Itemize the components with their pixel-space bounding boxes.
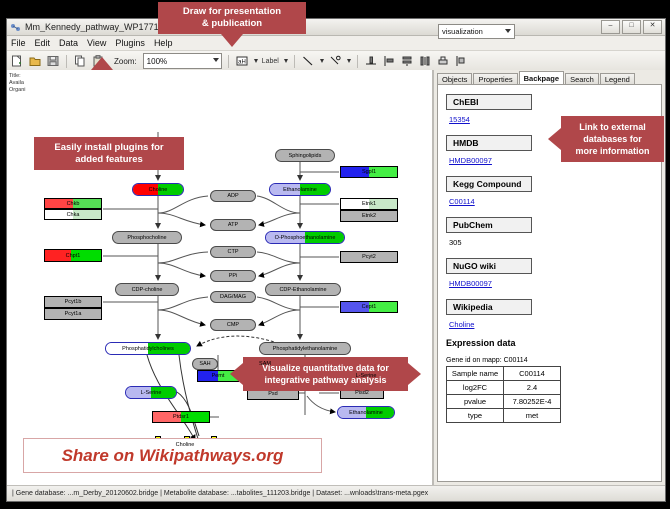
metabolite-node-atp[interactable]: ATP: [210, 219, 256, 231]
callout-share-box: Share on Wikipathways.org: [23, 438, 322, 473]
metabolite-node-ethanolamine_top[interactable]: Ethanolamine: [269, 183, 331, 196]
node-label: Sgpl1: [362, 169, 376, 175]
node-label: DAG/MAG: [220, 294, 246, 300]
node-label: CTP: [228, 249, 239, 255]
node-label: Chpt1: [66, 253, 81, 259]
callout-draw-arrow: [221, 34, 243, 47]
size-icon[interactable]: [436, 54, 450, 68]
zoom-value: 100%: [147, 57, 167, 66]
db-link-nugo[interactable]: HMDB00097: [449, 279, 653, 288]
save-icon[interactable]: [46, 54, 60, 68]
node-label: Sphingolipids: [289, 153, 322, 159]
menu-edit[interactable]: Edit: [35, 38, 51, 48]
cell-value: 2.4: [504, 381, 561, 395]
db-link-kegg[interactable]: C00114: [449, 197, 653, 206]
node-label: Etnk1: [362, 201, 376, 207]
gene-node-chkb[interactable]: Chkb: [44, 198, 102, 209]
cell-key: log2FC: [447, 381, 504, 395]
db-header-kegg: Kegg Compound: [446, 176, 532, 192]
window-title-bar: Mm_Kennedy_pathway_WP1771_45176.gpml – □…: [7, 19, 665, 36]
label-dropdown-label: Label: [262, 58, 279, 65]
callout-link-line1: Link to external: [579, 121, 646, 133]
db-value-pubchem: 305: [449, 238, 653, 247]
pathvisio-window: Mm_Kennedy_pathway_WP1771_45176.gpml – □…: [6, 18, 666, 502]
open-folder-icon[interactable]: [28, 54, 42, 68]
align-left-icon[interactable]: [382, 54, 396, 68]
screenshot-root: Mm_Kennedy_pathway_WP1771_45176.gpml – □…: [0, 0, 670, 509]
db-header-pubchem: PubChem: [446, 217, 532, 233]
node-label: Choline: [176, 442, 195, 448]
callout-link-arrow: [548, 128, 561, 150]
node-label: Pcyt1a: [65, 311, 82, 317]
callout-share-text: Share on Wikipathways.org: [62, 446, 284, 466]
callout-link-line3: more information: [575, 145, 649, 157]
metabolite-node-adp[interactable]: ADP: [210, 190, 256, 202]
node-label: Ethanolamine: [283, 187, 317, 193]
node-label: SAM: [259, 361, 271, 367]
toolbar-separator: [66, 55, 67, 68]
callout-link: Link to external databases for more info…: [561, 116, 664, 162]
table-row: log2FC 2.4: [447, 381, 561, 395]
gene-node-pcyt1a[interactable]: Pcyt1a: [44, 308, 102, 320]
expression-data-header: Expression data: [446, 338, 653, 348]
window-controls: – □ ✕: [601, 20, 662, 34]
metabolite-node-choline_top[interactable]: Choline: [132, 183, 184, 196]
tab-backpage[interactable]: Backpage: [519, 71, 564, 85]
node-label: L-Serine: [356, 373, 377, 379]
line-icon[interactable]: [301, 54, 315, 68]
gene-node-chka[interactable]: Chka: [44, 209, 102, 220]
gene-node-sgpl1[interactable]: Sgpl1: [340, 166, 398, 178]
db-header-chebi: ChEBI: [446, 94, 532, 110]
node-label: L-Serine: [141, 390, 162, 396]
callout-visualize-arrow-right: [408, 363, 421, 385]
db-link-wikipedia[interactable]: Choline: [449, 320, 653, 329]
menu-bar: File Edit Data View Plugins Help: [7, 36, 665, 51]
metabolite-node-ppi[interactable]: PPi: [210, 270, 256, 282]
cell-value: 7.80252E-4: [504, 395, 561, 409]
node-label: Pcyt1b: [65, 299, 82, 305]
gene-node-etnk2[interactable]: Etnk2: [340, 210, 398, 222]
menu-plugins[interactable]: Plugins: [115, 38, 145, 48]
menu-file[interactable]: File: [11, 38, 26, 48]
node-label: Psd: [268, 391, 277, 397]
toolbar-separator: [294, 55, 295, 68]
maximize-button[interactable]: □: [622, 20, 641, 34]
node-label: Phosphatidylethanolamine: [273, 346, 338, 352]
minimize-button[interactable]: –: [601, 20, 620, 34]
callout-draw: Draw for presentation & publication: [158, 2, 306, 34]
node-label: O-Phosphoethanolamine: [275, 235, 336, 241]
metabolite-node-phosphatidylethanolamine[interactable]: Phosphatidylethanolamine: [259, 342, 351, 355]
metabolite-node-ctp[interactable]: CTP: [210, 246, 256, 258]
callout-visualize-arrow-left: [230, 363, 243, 385]
callout-plugins: Easily install plugins for added feature…: [34, 137, 184, 170]
align-top-icon[interactable]: [364, 54, 378, 68]
callout-plugins-line2: added features: [75, 154, 143, 166]
metabolite-node-ethanolamine_bottom[interactable]: Ethanolamine: [337, 406, 395, 419]
status-text: | Gene database: ...m_Derby_20120602.bri…: [12, 490, 428, 497]
zoom-combobox[interactable]: 100%: [143, 53, 222, 69]
datanode-icon[interactable]: aH: [235, 54, 249, 68]
node-label: Etnk2: [362, 213, 376, 219]
status-bar: | Gene database: ...m_Derby_20120602.bri…: [7, 485, 665, 501]
node-label: CMP: [227, 322, 239, 328]
node-label: ADP: [227, 193, 238, 199]
metabolite-node-sphingolipids[interactable]: Sphingolipids: [275, 149, 335, 162]
table-row: type met: [447, 409, 561, 423]
metabolite-node-l_serine_left[interactable]: L-Serine: [125, 386, 177, 399]
table-row: pvalue 7.80252E-4: [447, 395, 561, 409]
metabolite-node-sah[interactable]: SAH: [192, 358, 218, 370]
metabolite-node-cmp[interactable]: CMP: [210, 319, 256, 331]
callout-plugins-line1: Easily install plugins for: [54, 142, 163, 154]
node-label: Chkb: [67, 201, 80, 207]
cell-key: Sample name: [447, 367, 504, 381]
node-label: Choline: [149, 187, 168, 193]
app-icon: [10, 22, 21, 33]
node-label: Ethanolamine: [349, 410, 383, 416]
pathway-canvas-pane[interactable]: Title: Availa Organi: [7, 70, 434, 485]
gene-node-cept1[interactable]: Cept1: [340, 301, 398, 313]
gene-node-pcyt1b[interactable]: Pcyt1b: [44, 296, 102, 308]
node-label: ATP: [228, 222, 238, 228]
chevron-down-icon: [505, 29, 511, 33]
close-button[interactable]: ✕: [643, 20, 662, 34]
node-label: Phosphocholine: [127, 235, 166, 241]
node-label: Pisd2: [355, 390, 369, 396]
visualization-value: visualization: [442, 27, 483, 36]
anchor-icon[interactable]: [328, 54, 342, 68]
callout-draw-line2: & publication: [202, 18, 262, 30]
svg-text:aH: aH: [238, 60, 246, 66]
gene-node-ptdsr1[interactable]: Ptdsr1: [152, 411, 210, 423]
db-header-hmdb: HMDB: [446, 135, 532, 151]
metabolite-node-dag_mag[interactable]: DAG/MAG: [210, 291, 256, 303]
chevron-down-icon: [213, 58, 219, 62]
cell-key: type: [447, 409, 504, 423]
distribute-icon[interactable]: [418, 54, 432, 68]
group-icon[interactable]: [454, 54, 468, 68]
gene-node-etnk1[interactable]: Etnk1: [340, 198, 398, 210]
chevron-down-icon[interactable]: [254, 59, 258, 63]
callout-draw-line1: Draw for presentation: [183, 6, 281, 18]
pathway-nodes: SphingolipidsCholineEthanolamineADPATPPh…: [7, 70, 432, 485]
metabolite-node-phosphatidylcholines[interactable]: Phosphatidylcholines: [105, 342, 191, 355]
db-header-wikipedia: Wikipedia: [446, 299, 532, 315]
metabolite-node-o_phosphoethanolamine[interactable]: O-Phosphoethanolamine: [265, 231, 345, 244]
node-label: PPi: [229, 273, 238, 279]
node-label: Ptdsr1: [173, 414, 189, 420]
menu-data[interactable]: Data: [59, 38, 78, 48]
gene-node-chpt1[interactable]: Chpt1: [44, 249, 102, 262]
callout-plugins-arrow: [91, 57, 113, 70]
metabolite-node-cdp_ethanolamine[interactable]: CDP-Ethanolamine: [265, 283, 341, 296]
gene-id-label: Gene id on mapp: C00114: [446, 357, 653, 364]
chevron-down-icon[interactable]: [320, 59, 324, 63]
toolbar-separator: [357, 55, 358, 68]
db-header-nugo: NuGO wiki: [446, 258, 532, 274]
node-label: Pemt: [212, 373, 225, 379]
node-label: CDP-choline: [132, 287, 163, 293]
cell-value: met: [504, 409, 561, 423]
node-label: Chka: [67, 212, 80, 218]
gene-node-pcyt2[interactable]: Pcyt2: [340, 251, 398, 263]
table-row: Sample name C00114: [447, 367, 561, 381]
menu-view[interactable]: View: [87, 38, 106, 48]
callout-link-line2: databases for: [583, 133, 642, 145]
node-label: Phosphatidylcholines: [122, 346, 174, 352]
node-label: SAH: [199, 361, 210, 367]
metabolite-node-cdp_choline[interactable]: CDP-choline: [115, 283, 179, 296]
copy-icon[interactable]: [73, 54, 87, 68]
stack-icon[interactable]: [400, 54, 414, 68]
node-label: CDP-Ethanolamine: [279, 287, 326, 293]
chevron-down-icon[interactable]: [347, 59, 351, 63]
cell-value: C00114: [504, 367, 561, 381]
chevron-down-icon[interactable]: [284, 59, 288, 63]
new-file-icon[interactable]: [10, 54, 24, 68]
toolbar-separator: [228, 55, 229, 68]
node-label: Pcyt2: [362, 254, 376, 260]
cell-key: pvalue: [447, 395, 504, 409]
zoom-label: Zoom:: [114, 57, 137, 66]
node-label: Cept1: [362, 304, 377, 310]
expression-table: Sample name C00114 log2FC 2.4 pvalue 7.8…: [446, 366, 561, 423]
metabolite-node-phosphocholine[interactable]: Phosphocholine: [112, 231, 182, 244]
visualization-combobox[interactable]: visualization: [438, 24, 515, 39]
menu-help[interactable]: Help: [154, 38, 173, 48]
